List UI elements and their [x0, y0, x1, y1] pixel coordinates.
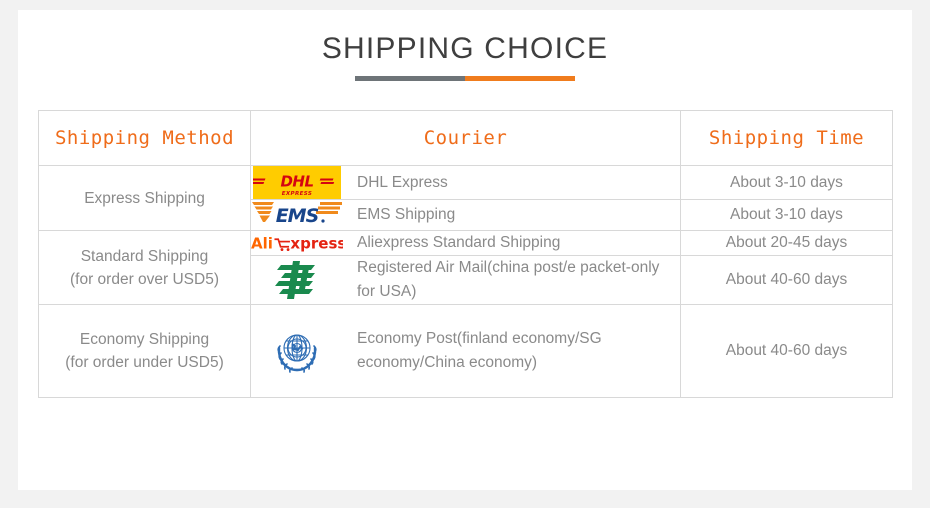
table-body: Express Shipping	[39, 166, 893, 398]
method-note: (for order under USD5)	[39, 351, 250, 374]
courier-cell-economy-post: Economy Post(finland economy/SG economy/…	[251, 305, 681, 398]
shipping-time: About 20-45 days	[681, 231, 893, 256]
shipping-time: About 40-60 days	[681, 305, 893, 398]
column-header-courier: Courier	[251, 111, 681, 166]
table-head: Shipping Method Courier Shipping Time	[39, 111, 893, 166]
title-underline-right	[465, 76, 575, 81]
shipping-choice-card: SHIPPING CHOICE Shipping Method Courier …	[18, 10, 912, 490]
shipping-time: About 3-10 days	[681, 166, 893, 200]
aliexpress-logo: Ali xpress	[251, 232, 343, 254]
courier-cell-ems: EMS EMS Shipping	[251, 200, 681, 231]
method-label: Express Shipping	[39, 187, 250, 210]
courier-cell-aliexpress: Ali xpress Aliexpress Standard Shippin	[251, 231, 681, 256]
un-emblem-logo	[251, 326, 343, 376]
method-note: (for order over USD5)	[39, 268, 250, 291]
table-row: Economy Shipping (for order under USD5)	[39, 305, 893, 398]
shipping-table: Shipping Method Courier Shipping Time Ex…	[38, 110, 893, 398]
courier-cell-china-post: Registered Air Mail(china post/e packet-…	[251, 256, 681, 305]
page-title: SHIPPING CHOICE	[18, 32, 912, 66]
svg-text:EMS: EMS	[276, 205, 319, 227]
title-underline	[355, 76, 575, 81]
shipping-method-standard: Standard Shipping (for order over USD5)	[39, 231, 251, 305]
method-label: Economy Shipping	[39, 328, 250, 351]
courier-name: Economy Post(finland economy/SG economy/…	[357, 327, 680, 375]
courier-name: DHL Express	[357, 171, 448, 195]
shipping-time: About 40-60 days	[681, 256, 893, 305]
shipping-method-economy: Economy Shipping (for order under USD5)	[39, 305, 251, 398]
svg-text:DHL: DHL	[280, 173, 313, 191]
svg-text:xpress: xpress	[290, 235, 343, 253]
table-row: Standard Shipping (for order over USD5) …	[39, 231, 893, 256]
table-header-row: Shipping Method Courier Shipping Time	[39, 111, 893, 166]
courier-cell-dhl: DHL EXPRESS DHL Express	[251, 166, 681, 200]
china-post-logo	[251, 259, 343, 301]
column-header-method: Shipping Method	[39, 111, 251, 166]
column-header-time: Shipping Time	[681, 111, 893, 166]
shipping-method-express: Express Shipping	[39, 166, 251, 231]
svg-text:Ali: Ali	[251, 235, 273, 253]
ems-logo: EMS	[251, 200, 343, 230]
page-title-block: SHIPPING CHOICE	[18, 32, 912, 81]
dhl-logo: DHL EXPRESS	[251, 166, 343, 199]
title-underline-left	[355, 76, 465, 81]
courier-name: EMS Shipping	[357, 203, 455, 227]
method-label: Standard Shipping	[39, 245, 250, 268]
table-row: Express Shipping	[39, 166, 893, 200]
courier-name: Registered Air Mail(china post/e packet-…	[357, 256, 680, 304]
shipping-time: About 3-10 days	[681, 200, 893, 231]
svg-text:EXPRESS: EXPRESS	[282, 191, 313, 197]
courier-name: Aliexpress Standard Shipping	[357, 231, 560, 255]
